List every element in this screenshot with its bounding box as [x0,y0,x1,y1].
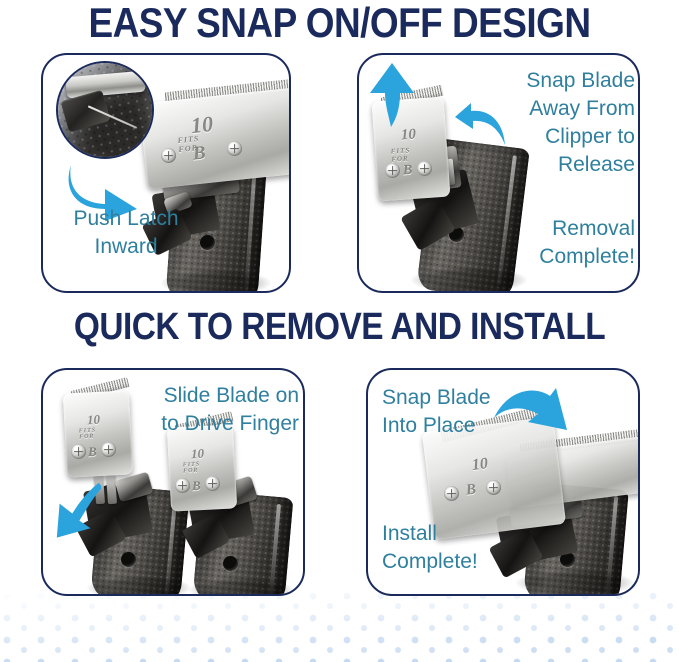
caption-snap-into-place: Snap Blade Into Place [382,384,542,440]
blade-sub-mark: FITS FOR [79,428,97,441]
caption-slide-blade: Slide Blade on to Drive Finger [143,382,299,438]
caption-removal-complete: Removal Complete! [477,215,635,271]
blade-size-mark: 10 [191,446,205,463]
blade-sub-mark: FITS FOR [183,462,201,475]
blade-brand-mark: B [402,163,412,180]
decorative-dot-pattern [0,590,679,662]
panel-slide-blade: 10 FITS FOR B 10 FITS FOR B [41,368,305,596]
panel-push-latch: 10 FITS FOR B Push Latch Inward [41,53,291,293]
arrow-up-icon [369,63,415,127]
blade-brand-mark: B [88,444,97,460]
panel-snap-into-place: 10 B Snap Blade Into Place Install Compl… [366,368,640,596]
blade-size-mark: 10 [471,455,489,475]
caption-snap-away: Snap Blade Away From Clipper to Release [477,67,635,179]
caption-push-latch: Push Latch Inward [51,205,201,261]
inset-latch-detail-circle [56,61,154,159]
blade-brand-mark: B [192,478,201,494]
blade-brand-mark: B [192,142,207,165]
arrow-down-left-icon [51,478,101,540]
page-title-secondary: QUICK TO REMOVE AND INSTALL [41,307,639,347]
blade-size-mark: 10 [87,412,101,429]
panel-snap-away: 10 FITS FOR B Snap Blade Away From Clipp… [357,53,640,293]
infographic-root: EASY SNAP ON/OFF DESIGN 10 FITS FOR B [0,0,679,662]
blade-sub-mark: FITS FOR [390,146,411,163]
page-title-primary: EASY SNAP ON/OFF DESIGN [41,1,639,45]
blade-brand-mark: B [465,481,477,499]
caption-install-complete: Install Complete! [382,520,542,576]
blade-size-mark: 10 [400,126,416,144]
